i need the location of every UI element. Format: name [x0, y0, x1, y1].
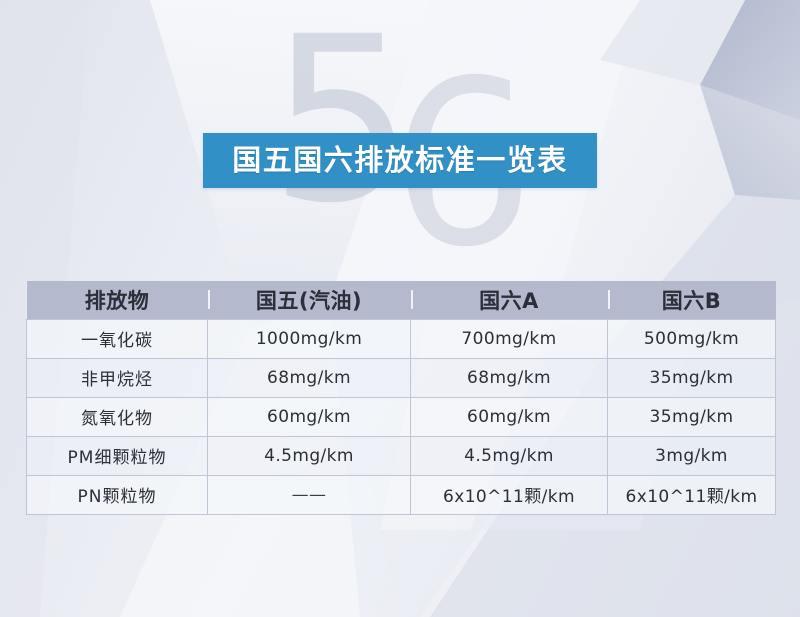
cell-guoliu-a: 700mg/km: [411, 319, 608, 358]
table-header: 排放物 国五(汽油) 国六A 国六B: [27, 281, 776, 319]
cell-guowu: 1000mg/km: [208, 319, 411, 358]
cell-guowu: ——: [208, 475, 411, 514]
cell-guoliu-b: 6x10^11颗/km: [608, 475, 776, 514]
table-row: 氮氧化物 60mg/km 60mg/km 35mg/km: [27, 397, 776, 436]
cell-guoliu-a: 4.5mg/km: [411, 436, 608, 475]
cell-guoliu-a: 68mg/km: [411, 358, 608, 397]
cell-guoliu-a: 60mg/km: [411, 397, 608, 436]
cell-pollutant: PN颗粒物: [27, 475, 208, 514]
table-row: PN颗粒物 —— 6x10^11颗/km 6x10^11颗/km: [27, 475, 776, 514]
emissions-standards-table: 排放物 国五(汽油) 国六A 国六B 一氧化碳 1000mg/km 700mg/…: [26, 281, 776, 515]
table-row: 一氧化碳 1000mg/km 700mg/km 500mg/km: [27, 319, 776, 358]
cell-guowu: 60mg/km: [208, 397, 411, 436]
cell-guoliu-b: 35mg/km: [608, 397, 776, 436]
cell-guoliu-b: 35mg/km: [608, 358, 776, 397]
watermark-digits: 5 6: [0, 6, 800, 256]
table-row: PM细颗粒物 4.5mg/km 4.5mg/km 3mg/km: [27, 436, 776, 475]
cell-guoliu-b: 500mg/km: [608, 319, 776, 358]
cell-guoliu-a: 6x10^11颗/km: [411, 475, 608, 514]
column-header-guowu: 国五(汽油): [208, 281, 411, 319]
column-header-pollutant: 排放物: [27, 281, 208, 319]
cell-pollutant: 非甲烷烃: [27, 358, 208, 397]
cell-guoliu-b: 3mg/km: [608, 436, 776, 475]
column-header-guoliu-a: 国六A: [411, 281, 608, 319]
column-header-guoliu-b: 国六B: [608, 281, 776, 319]
page-title: 国五国六排放标准一览表: [232, 146, 568, 175]
infographic-poster: 5 6 国五国六排放标准一览表 排放物 国五(汽油) 国六A 国六B 一氧化碳: [0, 0, 800, 617]
cell-pollutant: 氮氧化物: [27, 397, 208, 436]
cell-guowu: 4.5mg/km: [208, 436, 411, 475]
emissions-table-container: 排放物 国五(汽油) 国六A 国六B 一氧化碳 1000mg/km 700mg/…: [26, 281, 775, 515]
title-banner: 国五国六排放标准一览表: [203, 133, 597, 188]
table-row: 非甲烷烃 68mg/km 68mg/km 35mg/km: [27, 358, 776, 397]
table-body: 一氧化碳 1000mg/km 700mg/km 500mg/km 非甲烷烃 68…: [27, 319, 776, 514]
table-header-row: 排放物 国五(汽油) 国六A 国六B: [27, 281, 776, 319]
cell-pollutant: PM细颗粒物: [27, 436, 208, 475]
cell-pollutant: 一氧化碳: [27, 319, 208, 358]
watermark-digit-five: 5: [269, 6, 400, 234]
cell-guowu: 68mg/km: [208, 358, 411, 397]
